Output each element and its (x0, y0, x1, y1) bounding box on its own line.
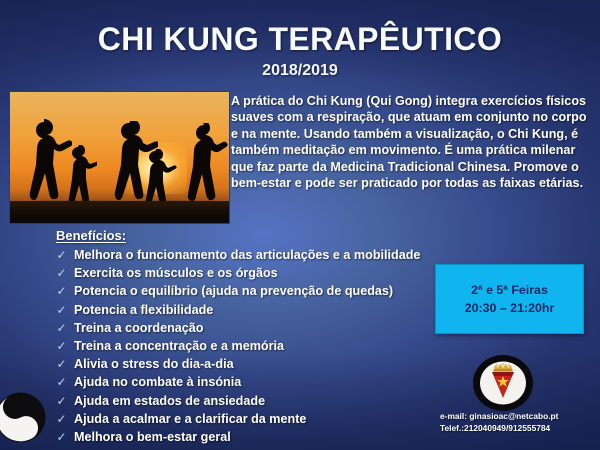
check-icon: ✓ (56, 301, 67, 319)
silhouette-figure (185, 123, 229, 205)
check-icon: ✓ (56, 392, 67, 410)
intro-paragraph: A prática do Chi Kung (Qui Gong) integra… (231, 93, 591, 191)
contact-phone: Telef.:212040949/912555784 (440, 423, 598, 435)
check-icon: ✓ (56, 264, 67, 282)
list-item: ✓Melhora o bem-estar geral (56, 428, 456, 446)
poster: CHI KUNG TERAPÊUTICO 2018/2019 A prática… (0, 0, 600, 450)
silhouette-figure (65, 145, 97, 205)
yin-yang-icon (0, 391, 47, 444)
check-icon: ✓ (56, 319, 67, 337)
season-subtitle: 2018/2019 (0, 62, 600, 80)
club-crest-logo (472, 354, 534, 412)
list-item-label: Ajuda em estados de ansiedade (74, 392, 265, 410)
list-item: ✓Potencia o equilíbrio (ajuda na prevenç… (56, 282, 456, 300)
ground-horizon (10, 201, 229, 223)
list-item-label: Melhora o funcionamento das articulações… (74, 246, 420, 264)
list-item: ✓Ajuda no combate à insónia (56, 373, 456, 391)
check-icon: ✓ (56, 428, 67, 446)
check-icon: ✓ (56, 355, 67, 373)
list-item-label: Exercita os músculos e os órgãos (74, 264, 278, 282)
schedule-hours: 20:30 – 21:20hr (465, 299, 555, 317)
list-item: ✓Ajuda em estados de ansiedade (56, 392, 456, 410)
list-item: ✓Treina a coordenação (56, 319, 456, 337)
list-item-label: Ajuda no combate à insónia (74, 373, 241, 391)
benefits-list: ✓Melhora o funcionamento das articulaçõe… (56, 246, 456, 446)
list-item-label: Potencia a flexibilidade (74, 301, 213, 319)
check-icon: ✓ (56, 373, 67, 391)
benefits-section: Benefícios: ✓Melhora o funcionamento das… (56, 228, 456, 446)
benefits-heading: Benefícios: (56, 228, 456, 243)
chi-kung-photo (9, 91, 230, 224)
check-icon: ✓ (56, 246, 67, 264)
list-item: ✓Treina a concentração e a memória (56, 337, 456, 355)
list-item-label: Potencia o equilíbrio (ajuda na prevençã… (74, 282, 393, 300)
list-item: ✓Exercita os músculos e os órgãos (56, 264, 456, 282)
check-icon: ✓ (56, 337, 67, 355)
list-item-label: Melhora o bem-estar geral (74, 428, 231, 446)
list-item-label: Treina a concentração e a memória (74, 337, 284, 355)
check-icon: ✓ (56, 282, 67, 300)
list-item-label: Treina a coordenação (74, 319, 204, 337)
list-item: ✓Melhora o funcionamento das articulaçõe… (56, 246, 456, 264)
list-item-label: Alivia o stress do dia-a-dia (74, 355, 234, 373)
page-title: CHI KUNG TERAPÊUTICO (0, 21, 600, 58)
list-item: ✓Potencia a flexibilidade (56, 301, 456, 319)
list-item: ✓Alivia o stress do dia-a-dia (56, 355, 456, 373)
contact-block: e-mail: ginasioac@netcabo.pt Telef.:2120… (440, 411, 598, 434)
contact-email: e-mail: ginasioac@netcabo.pt (440, 411, 598, 423)
check-icon: ✓ (56, 410, 67, 428)
schedule-days: 2ª e 5ª Feiras (471, 281, 548, 299)
schedule-box: 2ª e 5ª Feiras 20:30 – 21:20hr (435, 264, 584, 334)
list-item: ✓Ajuda a acalmar e a clarificar da mente (56, 410, 456, 428)
list-item-label: Ajuda a acalmar e a clarificar da mente (74, 410, 306, 428)
